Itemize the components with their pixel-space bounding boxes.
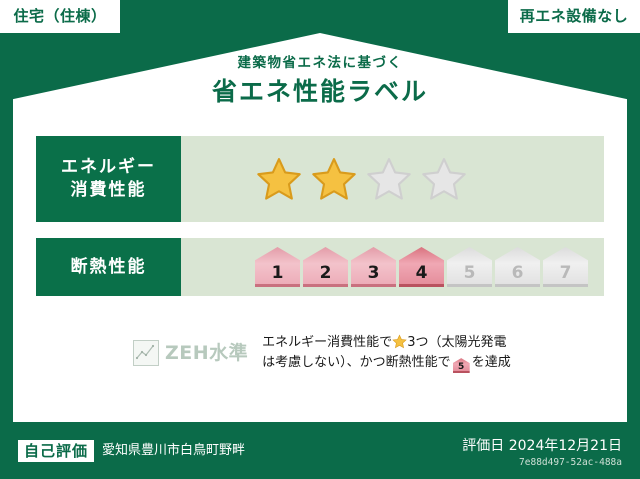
zeh-standard-block: ZEH水準 エネルギー消費性能で3つ（太陽光発電は考慮しない）、かつ断熱性能で5… — [133, 333, 563, 373]
insulation-level-badge-value: 2 — [320, 265, 332, 282]
insulation-level-badge-value: 5 — [464, 265, 476, 282]
zeh-desc-part3: を達成 — [472, 355, 511, 370]
star-empty-icon — [365, 156, 413, 202]
zeh-desc-part1: エネルギー消費性能で — [262, 335, 392, 350]
insulation-level-badge-value: 3 — [368, 265, 380, 282]
star-filled-icon — [310, 156, 358, 202]
zeh-desc-star-count: 3つ（太陽光発電 — [407, 335, 506, 350]
energy-performance-label-line1: エネルギー — [61, 156, 156, 179]
title-subtitle: 建築物省エネ法に基づく — [13, 57, 627, 71]
evaluation-date: 評価日 2024年12月21日 — [462, 438, 622, 455]
inline-star-icon — [392, 334, 407, 349]
star-empty-icon — [420, 156, 468, 202]
building-type-tag-label: 住宅（住棟） — [13, 9, 106, 24]
star-rating — [181, 136, 604, 222]
zeh-badge: ZEH水準 — [133, 340, 248, 366]
insulation-level-badge: 4 — [399, 247, 444, 287]
insulation-performance-label: 断熱性能 — [36, 238, 181, 296]
energy-performance-row: エネルギー 消費性能 — [36, 136, 604, 222]
self-evaluation-badge: 自己評価 — [18, 440, 94, 463]
insulation-level-badge: 2 — [303, 247, 348, 287]
star-filled-icon — [255, 156, 303, 202]
energy-performance-label-line2: 消費性能 — [71, 179, 147, 202]
title-block: 建築物省エネ法に基づく 省エネ性能ラベル — [13, 57, 627, 104]
energy-performance-label: エネルギー 消費性能 — [36, 136, 181, 222]
address-text: 愛知県豊川市白鳥町野畔 — [102, 444, 245, 457]
building-type-tag: 住宅（住棟） — [0, 0, 120, 33]
insulation-level-badge: 1 — [255, 247, 300, 287]
insulation-performance-row: 断熱性能 1234567 — [36, 238, 604, 296]
insulation-level-badge: 5 — [447, 247, 492, 287]
renewable-equipment-tag-label: 再エネ設備なし — [520, 9, 629, 24]
insulation-level-badge-value: 6 — [512, 265, 524, 282]
inline-insulation-badge: 5 — [453, 358, 470, 373]
insulation-performance-label-text: 断熱性能 — [71, 256, 147, 279]
renewable-equipment-tag: 再エネ設備なし — [508, 0, 640, 33]
document-hash: 7e88d497-52ac-488a — [462, 458, 622, 468]
footer-left: 自己評価 愛知県豊川市白鳥町野畔 — [18, 440, 245, 463]
page-title: 省エネ性能ラベル — [13, 79, 627, 104]
zeh-standard-name: ZEH水準 — [165, 344, 248, 363]
label-card: 建築物省エネ法に基づく 省エネ性能ラベル エネルギー 消費性能 断熱性能 123… — [13, 33, 627, 422]
insulation-level-badge-value: 1 — [272, 265, 284, 282]
footer-right: 評価日 2024年12月21日 7e88d497-52ac-488a — [462, 438, 622, 467]
insulation-level-badge: 7 — [543, 247, 588, 287]
energy-performance-label: 住宅（住棟） 再エネ設備なし 建築物省エネ法に基づく 省エネ性能ラベル エネルギ… — [0, 0, 640, 479]
insulation-level-badge-value: 4 — [416, 265, 428, 282]
insulation-level-badge: 6 — [495, 247, 540, 287]
zeh-description: エネルギー消費性能で3つ（太陽光発電は考慮しない）、かつ断熱性能で5を達成 — [262, 333, 563, 373]
zeh-desc-part2: は考慮しない）、かつ断熱性能で — [262, 355, 451, 370]
insulation-level-badge: 3 — [351, 247, 396, 287]
insulation-level-scale: 1234567 — [181, 238, 604, 296]
zeh-chart-icon — [133, 340, 159, 366]
insulation-level-badge-value: 7 — [560, 265, 572, 282]
inline-insulation-badge-value: 5 — [453, 358, 470, 376]
